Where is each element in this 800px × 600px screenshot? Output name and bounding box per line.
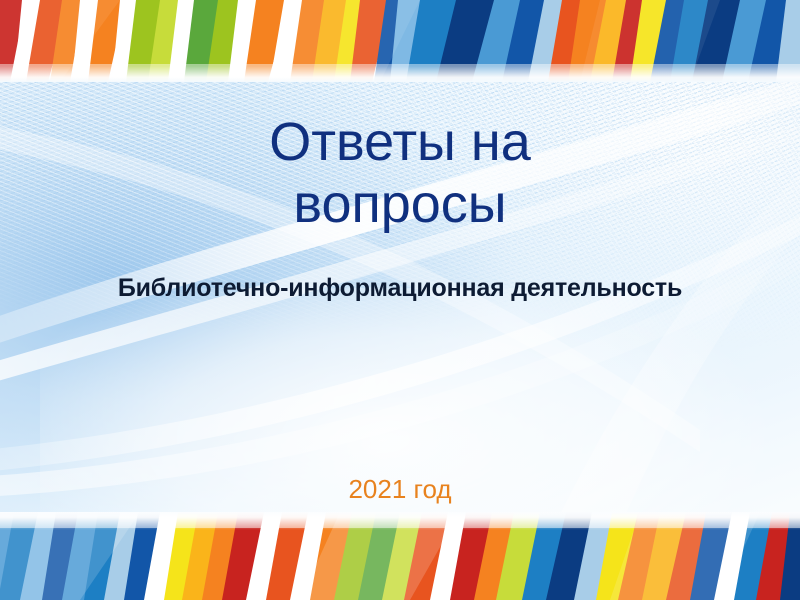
slide-subtitle: Библиотечно-информационная деятельность	[0, 274, 800, 303]
slide-year: 2021 год	[0, 474, 800, 505]
slide-title: Ответы на вопросы	[0, 112, 800, 235]
slide-content: Ответы на вопросы Библиотечно-информацио…	[0, 0, 800, 600]
presentation-slide: Ответы на вопросы Библиотечно-информацио…	[0, 0, 800, 600]
